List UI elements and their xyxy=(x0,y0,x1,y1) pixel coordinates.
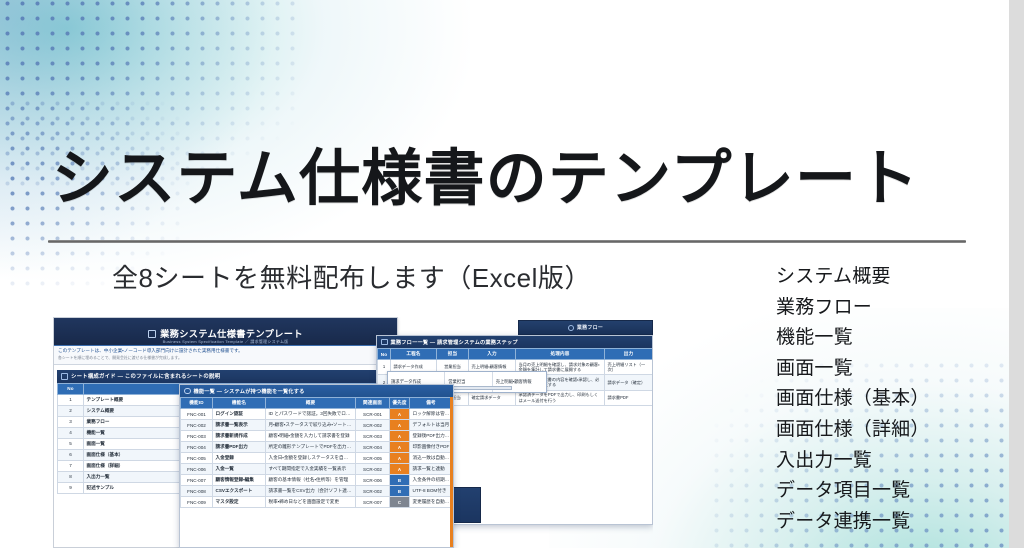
cell-function-name: ログイン認証 xyxy=(213,409,266,420)
table-row[interactable]: FNC-007 顧客情報登録・編集 顧客の基本情報（社名・住所等）を管理 SCR… xyxy=(181,475,453,486)
cell-summary: すべて期間指定で入金実績を一覧表示 xyxy=(266,464,356,475)
cell-function-id: FNC-004 xyxy=(181,442,213,453)
table-row[interactable]: FNC-001 ログイン認証 ID とパスワードで認証。3回失敗でロック SCR… xyxy=(181,409,453,420)
page-subtitle: 全8シートを無料配布します（Excel版） xyxy=(112,258,591,295)
cell-note: 変更履歴を自動記録 xyxy=(410,497,453,508)
cell-function-id: FNC-009 xyxy=(181,497,213,508)
sheet-list-item: 画面仕様（詳細） xyxy=(776,415,930,446)
cell-function-name: 請求書PDF出力 xyxy=(213,442,266,453)
cell-related-screen: SCR-005 xyxy=(356,453,390,464)
sheet-guide-header-label: シート構成ガイド ― このファイルに含まれるシートの説明 xyxy=(71,372,220,380)
sheet-list-item: システム概要 xyxy=(776,262,930,293)
column-header: 入力 xyxy=(469,349,516,360)
workflow-panel-title: 業務フロー一覧 ― 請求管理システムの業務ステップ xyxy=(391,339,518,346)
table-row[interactable]: FNC-009 マスタ設定 税率・締め日などを画面設定で変更 SCR-007 C… xyxy=(181,497,453,508)
sheet-list-item: データ連携一覧 xyxy=(776,507,930,538)
gradient-wash-top-left-blue xyxy=(0,0,280,280)
cell-related-screen: SCR-001 xyxy=(356,409,390,420)
cell-note: 印影画像付きPDF xyxy=(410,442,453,453)
column-header: 機能ID xyxy=(181,398,213,409)
column-header: No xyxy=(378,349,391,360)
cell-function-name: 入金一覧 xyxy=(213,464,266,475)
cell-summary: 請求書一覧をCSV出力（会計ソフト連携用） xyxy=(266,486,356,497)
cell-function-id: FNC-003 xyxy=(181,431,213,442)
column-header: 概要 xyxy=(266,398,356,409)
cell-priority: B xyxy=(390,475,410,486)
cell-summary: 入金日・金額を登録しステータスを自動更新 xyxy=(266,453,356,464)
cell-no: 5 xyxy=(58,438,84,449)
cell-related-screen: SCR-007 xyxy=(356,497,390,508)
function-table: 機能ID 機能名 概要 関連画面 優先度 備考 FNC-001 ログイン認証 I xyxy=(180,397,453,508)
tab-flow[interactable]: 業務フロー xyxy=(518,320,653,335)
table-row[interactable]: FNC-005 入金登録 入金日・金額を登録しステータスを自動更新 SCR-00… xyxy=(181,453,453,464)
cell-summary: 月・顧客・ステータスで絞り込み・ソート可能 xyxy=(266,420,356,431)
cell-related-screen: SCR-002 xyxy=(356,486,390,497)
cell-function-id: FNC-008 xyxy=(181,486,213,497)
table-header-row: 機能ID 機能名 概要 関連画面 優先度 備考 xyxy=(181,398,453,409)
workbook-note: このテンプレートは、中小企業・ノーコード導入部門向けに設計された実務用仕様書です… xyxy=(54,345,397,365)
cell-note: 登録後PDF出力可能 xyxy=(410,431,453,442)
column-header: 処理内容 xyxy=(516,349,605,360)
slide-canvas: システム仕様書のテンプレート 全8シートを無料配布します（Excel版） システ… xyxy=(0,0,1009,548)
cell-function-id: FNC-002 xyxy=(181,420,213,431)
cell-function-name: マスタ設定 xyxy=(213,497,266,508)
panel-accent-edge xyxy=(450,397,453,547)
cell-note: 入金条件の初期値を保持 xyxy=(410,475,453,486)
title-divider xyxy=(48,240,966,243)
cell-no: 3 xyxy=(58,416,84,427)
cell-note: 消込一致は自動完了 xyxy=(410,453,453,464)
cell-note: 請求一覧と連動 xyxy=(410,464,453,475)
table-row[interactable]: FNC-006 入金一覧 すべて期間指定で入金実績を一覧表示 SCR-002 A… xyxy=(181,464,453,475)
column-header: 関連画面 xyxy=(356,398,390,409)
flow-icon xyxy=(381,339,388,346)
column-header: 優先度 xyxy=(390,398,410,409)
column-header: 備考 xyxy=(410,398,453,409)
cell-summary: 税率・締め日などを画面設定で変更 xyxy=(266,497,356,508)
cell-no: 4 xyxy=(58,427,84,438)
cell-no: 6 xyxy=(58,449,84,460)
function-panel-title: 機能一覧 ― システムが持つ機能を一覧化する xyxy=(194,388,305,395)
cell-priority: A xyxy=(390,464,410,475)
horizontal-scrollbar[interactable] xyxy=(450,386,512,390)
page-right-gutter xyxy=(1009,0,1024,548)
cell-priority: C xyxy=(390,497,410,508)
cell-no: 9 xyxy=(58,482,84,493)
cell-priority: A xyxy=(390,409,410,420)
workbook-title: 業務システム仕様書テンプレート xyxy=(160,330,303,339)
workbook-subtitle: Business System Specification Template ／… xyxy=(54,340,397,345)
flow-tab-icon xyxy=(568,325,574,331)
cell-summary: 所定の雛形テンプレートでPDFを出力・送信 xyxy=(266,442,356,453)
cell-function-name: 請求書一覧表示 xyxy=(213,420,266,431)
cell-priority: A xyxy=(390,431,410,442)
column-header: 出力 xyxy=(605,349,653,360)
cell-no: 7 xyxy=(58,460,84,471)
cell-function-id: FNC-006 xyxy=(181,464,213,475)
cell-output: 請求データ（確定） xyxy=(605,375,653,390)
cell-function-id: FNC-005 xyxy=(181,453,213,464)
sheet-name-list: システム概要 業務フロー 機能一覧 画面一覧 画面仕様（基本） 画面仕様（詳細）… xyxy=(776,262,930,537)
function-panel-header: 機能一覧 ― システムが持つ機能を一覧化する xyxy=(180,385,453,397)
table-row[interactable]: FNC-003 請求書新規作成 顧客・明細・金額を入力して請求書を登録 SCR-… xyxy=(181,431,453,442)
cell-related-screen: SCR-003 xyxy=(356,431,390,442)
cell-related-screen: SCR-002 xyxy=(356,464,390,475)
table-row[interactable]: FNC-008 CSVエクスポート 請求書一覧をCSV出力（会計ソフト連携用） … xyxy=(181,486,453,497)
cell-note: UTF-8 BOM付き xyxy=(410,486,453,497)
guide-icon xyxy=(61,373,68,380)
cell-output: 売上明細リスト（一次） xyxy=(605,360,653,375)
cell-related-screen: SCR-002 xyxy=(356,420,390,431)
function-list-panel: 機能一覧 ― システムが持つ機能を一覧化する 機能ID 機能名 概要 関連画面 xyxy=(179,384,454,548)
column-header: No xyxy=(58,383,84,394)
cell-function-name: CSVエクスポート xyxy=(213,486,266,497)
cell-priority: A xyxy=(390,442,410,453)
cell-output: 請求書PDF xyxy=(605,390,653,405)
workbook-note-line-2: 各シートを順に埋めることで、開発会社に渡せる仕様書が完成します。 xyxy=(58,355,393,361)
sheet-list-item: 入出力一覧 xyxy=(776,446,930,477)
column-header: 担当 xyxy=(437,349,469,360)
sheet-list-item: データ項目一覧 xyxy=(776,476,930,507)
tab-flow-label: 業務フロー xyxy=(577,324,603,331)
column-header: 機能名 xyxy=(213,398,266,409)
cell-no: 2 xyxy=(58,405,84,416)
cell-no: 8 xyxy=(58,471,84,482)
sheet-list-item: 画面一覧 xyxy=(776,354,930,385)
sheet-guide-header: シート構成ガイド ― このファイルに含まれるシートの説明 xyxy=(57,370,394,383)
cell-summary: 顧客・明細・金額を入力して請求書を登録 xyxy=(266,431,356,442)
table-row[interactable]: FNC-004 請求書PDF出力 所定の雛形テンプレートでPDFを出力・送信 S… xyxy=(181,442,453,453)
gradient-wash-top-left xyxy=(0,0,470,280)
workflow-panel-header: 業務フロー一覧 ― 請求管理システムの業務ステップ xyxy=(377,336,652,348)
spreadsheet-icon xyxy=(148,330,156,338)
cell-related-screen: SCR-006 xyxy=(356,475,390,486)
cell-note: デフォルトは当月 xyxy=(410,420,453,431)
cell-function-id: FNC-001 xyxy=(181,409,213,420)
sheet-list-item: 機能一覧 xyxy=(776,323,930,354)
table-row[interactable]: FNC-002 請求書一覧表示 月・顧客・ステータスで絞り込み・ソート可能 SC… xyxy=(181,420,453,431)
cell-function-name: 顧客情報登録・編集 xyxy=(213,475,266,486)
spreadsheet-preview: 業務システム仕様書テンプレート Business System Specific… xyxy=(53,317,653,548)
column-header: 工程名 xyxy=(391,349,437,360)
cell-note: ロック解除は管理者のみ xyxy=(410,409,453,420)
cell-summary: 顧客の基本情報（社名・住所等）を管理 xyxy=(266,475,356,486)
workbook-note-line-1: このテンプレートは、中小企業・ノーコード導入部門向けに設計された実務用仕様書です… xyxy=(58,348,393,355)
table-header-row: No 工程名 担当 入力 処理内容 出力 xyxy=(378,349,653,360)
cell-related-screen: SCR-004 xyxy=(356,442,390,453)
page-title: システム仕様書のテンプレート xyxy=(52,146,919,211)
sheet-list-item: 画面仕様（基本） xyxy=(776,384,930,415)
cell-priority: A xyxy=(390,420,410,431)
workbook-banner: 業務システム仕様書テンプレート Business System Specific… xyxy=(54,318,397,345)
cell-function-id: FNC-007 xyxy=(181,475,213,486)
cell-summary: ID とパスワードで認証。3回失敗でロック xyxy=(266,409,356,420)
cell-priority: A xyxy=(390,453,410,464)
slide-page: システム仕様書のテンプレート 全8シートを無料配布します（Excel版） システ… xyxy=(0,0,1024,548)
cell-function-name: 入金登録 xyxy=(213,453,266,464)
cell-function-name: 請求書新規作成 xyxy=(213,431,266,442)
sheet-list-item: 業務フロー xyxy=(776,293,930,324)
function-icon xyxy=(184,388,191,395)
cell-priority: B xyxy=(390,486,410,497)
cell-no: 1 xyxy=(58,394,84,405)
